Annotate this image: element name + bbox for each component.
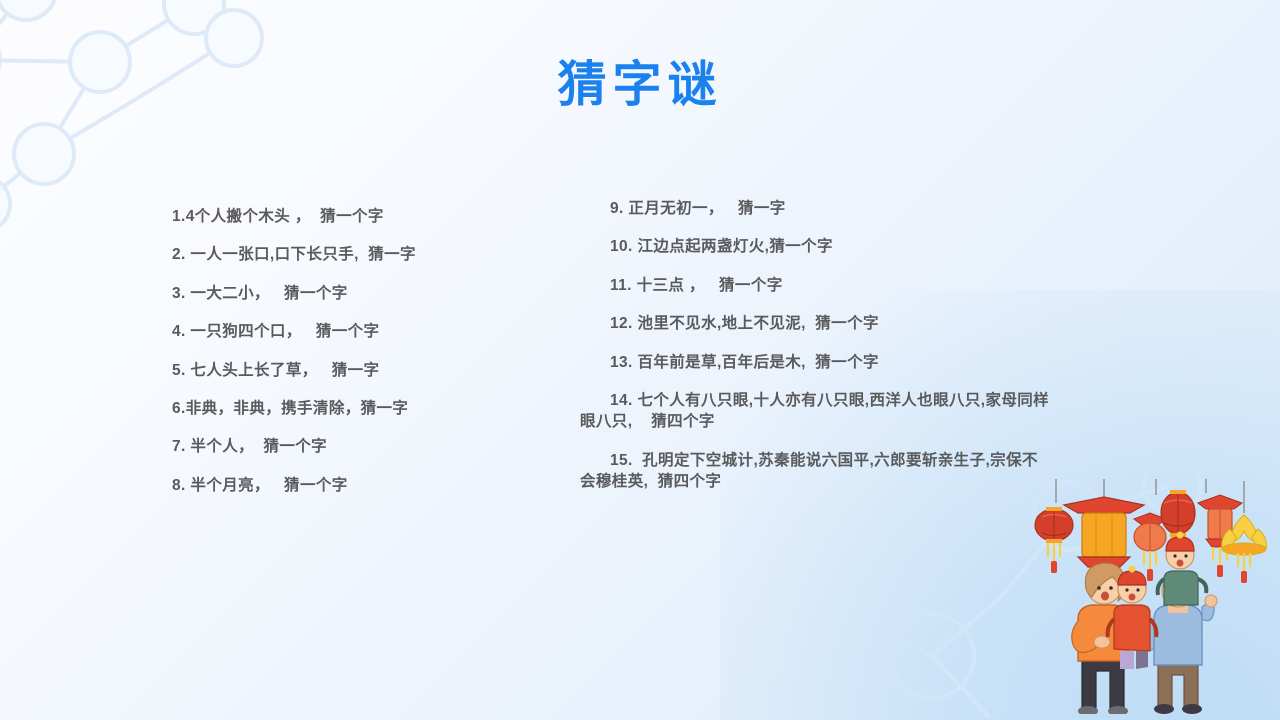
riddle-item: 6.非典，非典，携手清除，猜一字 xyxy=(172,398,572,419)
riddle-item: 13. 百年前是草,百年后是木, 猜一个字 xyxy=(580,352,1050,373)
riddle-item: 11. 十三点 ， 猜一个字 xyxy=(580,275,1050,296)
riddle-item: 14. 七个人有八只眼,十人亦有八只眼,西洋人也眼八只,家母同样眼八只, 猜四个… xyxy=(580,390,1050,433)
riddle-item: 5. 七人头上长了草， 猜一字 xyxy=(172,360,572,381)
riddle-item: 7. 半个人， 猜一个字 xyxy=(172,436,572,457)
riddle-column-right: 9. 正月无初一， 猜一字 10. 江边点起两盏灯火,猜一个字 11. 十三点 … xyxy=(580,198,1050,509)
lantern-round-right xyxy=(1134,513,1166,581)
lantern-round-left xyxy=(1035,507,1073,573)
riddle-item: 9. 正月无初一， 猜一字 xyxy=(580,198,1050,219)
riddle-item: 3. 一大二小， 猜一个字 xyxy=(172,283,572,304)
riddle-item: 8. 半个月亮， 猜一个字 xyxy=(172,475,572,496)
riddle-item: 4. 一只狗四个口， 猜一个字 xyxy=(172,321,572,342)
slide-canvas: 猜字谜 1.4个人搬个木头 ， 猜一个字 2. 一人一张口,口下长只手, 猜一字… xyxy=(0,0,1280,720)
riddle-column-left: 1.4个人搬个木头 ， 猜一个字 2. 一人一张口,口下长只手, 猜一字 3. … xyxy=(172,206,572,513)
lantern-lotus xyxy=(1222,481,1267,583)
riddle-item: 1.4个人搬个木头 ， 猜一个字 xyxy=(172,206,572,227)
riddle-item: 12. 池里不见水,地上不见泥, 猜一个字 xyxy=(580,313,1050,334)
riddle-item: 10. 江边点起两盏灯火,猜一个字 xyxy=(580,236,1050,257)
riddle-item: 2. 一人一张口,口下长只手, 猜一字 xyxy=(172,244,572,265)
riddle-item: 15. 孔明定下空城计,苏秦能说六国平,六郎要斩亲生子,宗保不会穆桂英, 猜四个… xyxy=(580,450,1050,493)
page-title: 猜字谜 xyxy=(0,56,1280,115)
family-lantern-illustration xyxy=(1008,479,1268,714)
